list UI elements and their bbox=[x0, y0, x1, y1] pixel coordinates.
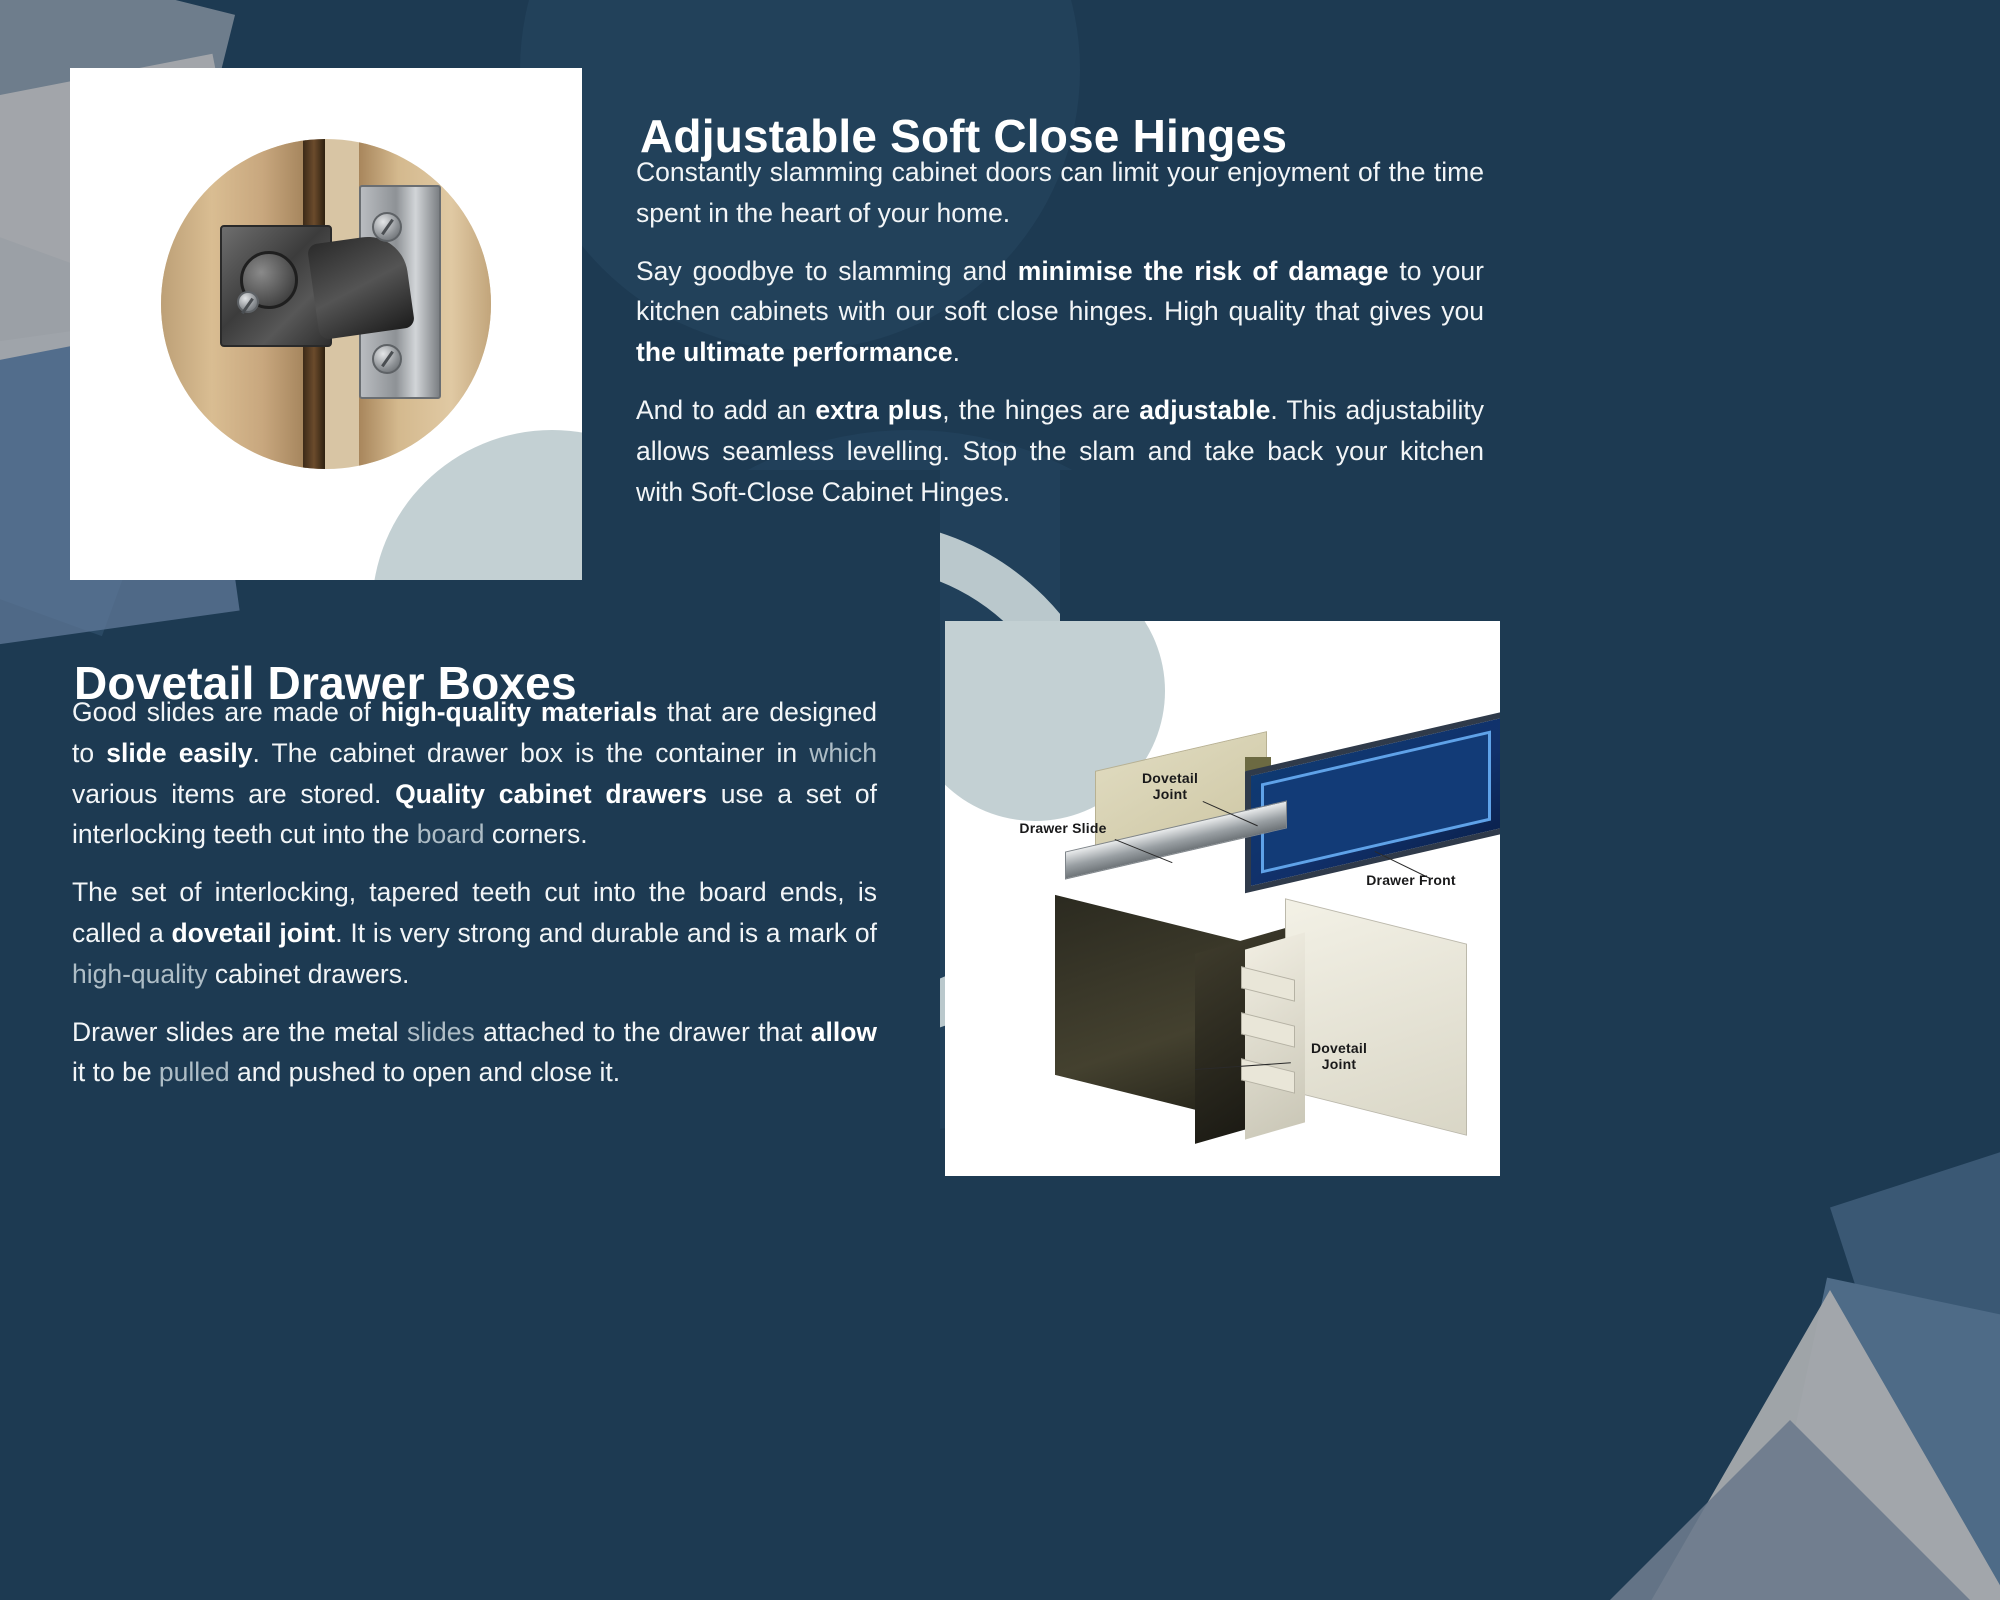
corner-shape-bottom-right-triangle-grey bbox=[1530, 1420, 2000, 1600]
corner-shape-bottom-right-triangle-light bbox=[1640, 1290, 2000, 1600]
paragraph: Drawer slides are the metal slides attac… bbox=[72, 1012, 877, 1094]
page-root: Adjustable Soft Close Hinges Constantly … bbox=[0, 0, 2000, 1600]
hinge-screw-top bbox=[372, 212, 402, 242]
dovetail-body-copy: Good slides are made of high-quality mat… bbox=[72, 692, 877, 1093]
diagram-label-drawer-front: Drawer Front bbox=[1345, 873, 1477, 889]
hinge-screw-cup bbox=[237, 291, 259, 313]
diagram-label-dovetail-joint-bottom: Dovetail Joint bbox=[1297, 1041, 1381, 1072]
diagram-label-drawer-slide: Drawer Slide bbox=[1015, 821, 1111, 837]
hinge-photo bbox=[70, 68, 582, 580]
hinge-photo-circle bbox=[161, 139, 491, 469]
corner-shape-bottom-right-slab bbox=[1758, 1278, 2000, 1600]
dovetail-diagram-art: Drawer Slide Dovetail Joint Drawer Front… bbox=[945, 621, 1500, 1176]
dovetail-light-board bbox=[1285, 898, 1467, 1135]
paragraph: And to add an extra plus, the hinges are… bbox=[636, 390, 1484, 512]
paragraph: Constantly slamming cabinet doors can li… bbox=[636, 152, 1484, 234]
dovetail-diagram: Drawer Slide Dovetail Joint Drawer Front… bbox=[945, 621, 1500, 1176]
hinge-screw-bottom bbox=[372, 344, 402, 374]
hinges-body-copy: Constantly slamming cabinet doors can li… bbox=[636, 152, 1484, 512]
corner-shape-bottom-right-square bbox=[1830, 1127, 2000, 1493]
diagram-label-dovetail-joint-top: Dovetail Joint bbox=[1131, 771, 1209, 802]
paragraph: Good slides are made of high-quality mat… bbox=[72, 692, 877, 855]
paragraph: Say goodbye to slamming and minimise the… bbox=[636, 251, 1484, 373]
paragraph: The set of interlocking, tapered teeth c… bbox=[72, 872, 877, 994]
